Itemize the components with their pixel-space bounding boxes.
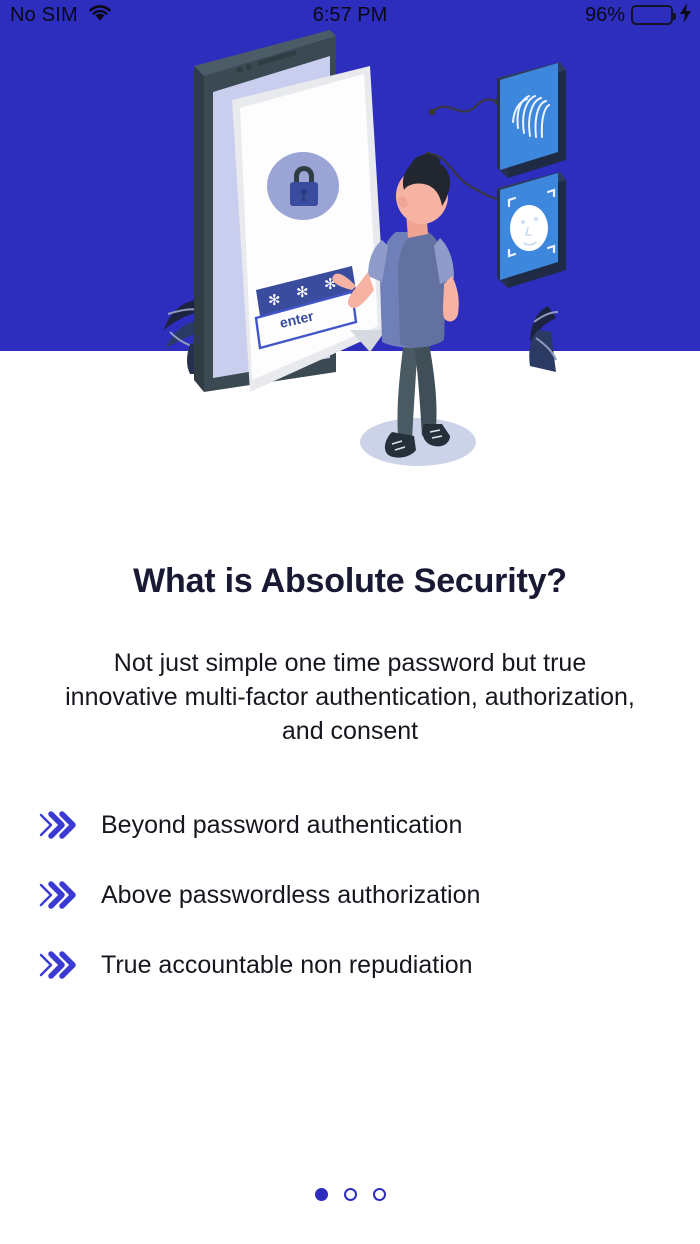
feature-list: Beyond password authentication Above pas… <box>0 790 700 1000</box>
pagination-dot-3[interactable] <box>373 1188 386 1201</box>
triple-chevron-right-icon <box>35 810 79 840</box>
list-item: Beyond password authentication <box>35 790 700 860</box>
status-bar: No SIM 6:57 PM 96% <box>0 0 700 30</box>
list-item: True accountable non repudiation <box>35 930 700 1000</box>
triple-chevron-right-icon <box>35 950 79 980</box>
hero-illustration: ✻ ✻ ✻ enter <box>0 0 700 500</box>
onboarding-content: What is Absolute Security? Not just simp… <box>0 500 700 1000</box>
svg-text:✻: ✻ <box>268 292 281 309</box>
battery-percent-label: 96% <box>585 4 625 27</box>
list-item-label: Beyond password authentication <box>101 811 462 840</box>
list-item-label: True accountable non repudiation <box>101 951 473 980</box>
list-item: Above passwordless authorization <box>35 860 700 930</box>
svg-text:✻: ✻ <box>296 284 309 301</box>
lightning-bolt-icon <box>679 3 692 28</box>
pagination-dot-1[interactable] <box>315 1188 328 1201</box>
battery-icon <box>631 5 673 25</box>
padlock-icon <box>267 152 339 220</box>
fingerprint-icon <box>497 62 566 178</box>
page-title: What is Absolute Security? <box>0 562 700 601</box>
page-subtitle: Not just simple one time password but tr… <box>0 646 700 748</box>
status-bar-right: 96% <box>585 3 692 28</box>
list-item-label: Above passwordless authorization <box>101 881 480 910</box>
pagination-dots <box>0 1188 700 1201</box>
face-id-icon <box>497 172 566 288</box>
login-card: ✻ ✻ ✻ enter <box>232 66 386 392</box>
plant-right-decor <box>529 306 558 372</box>
pagination-dot-2[interactable] <box>344 1188 357 1201</box>
triple-chevron-right-icon <box>35 880 79 910</box>
security-authentication-illustration: ✻ ✻ ✻ enter <box>0 0 700 500</box>
